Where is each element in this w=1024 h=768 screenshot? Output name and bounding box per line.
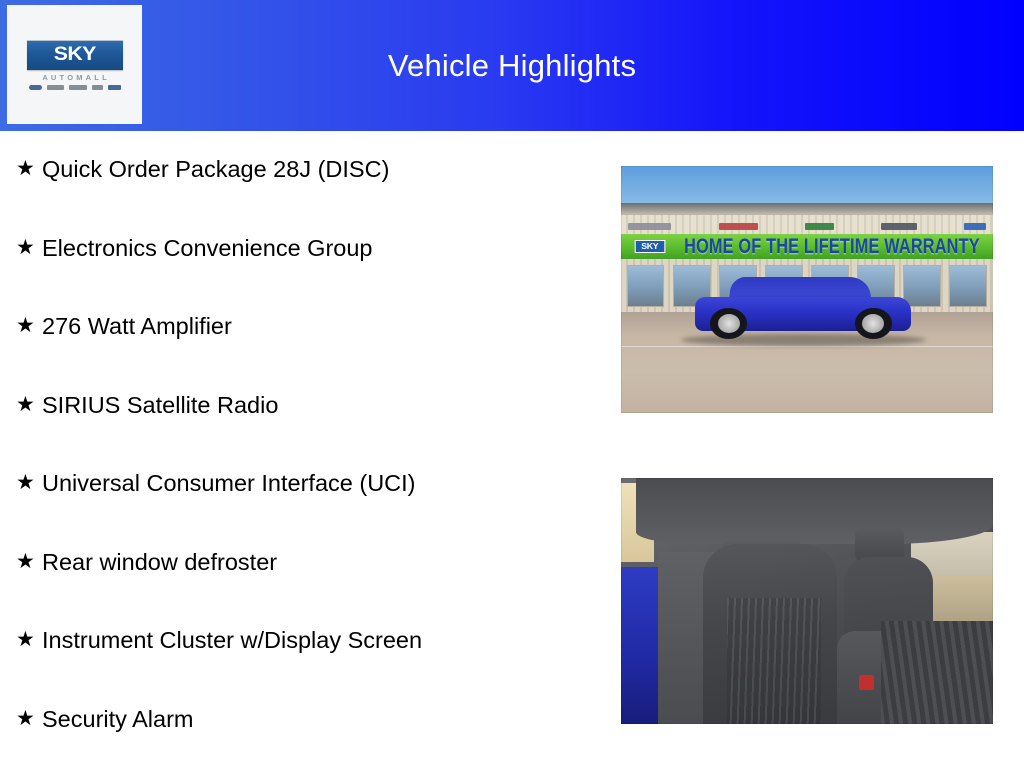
jeep-sign-icon bbox=[805, 223, 834, 231]
banner-text: HOME OF THE LIFETIME WARRANTY bbox=[684, 234, 980, 260]
star-bullet-icon: ★ bbox=[12, 311, 42, 341]
window-pane bbox=[627, 265, 665, 307]
logo-brand-marks bbox=[29, 85, 121, 90]
vehicle-exterior-photo: SKY HOME OF THE LIFETIME WARRANTY bbox=[621, 166, 993, 413]
warranty-banner: SKY HOME OF THE LIFETIME WARRANTY bbox=[621, 234, 993, 260]
highlight-text: Rear window defroster bbox=[42, 547, 277, 577]
jeep-mark-icon bbox=[69, 85, 87, 90]
window-pane bbox=[949, 265, 987, 307]
headliner bbox=[636, 478, 993, 544]
blue-challenger-vehicle bbox=[695, 275, 911, 339]
floor-mat bbox=[881, 621, 993, 724]
chrysler-mark-icon bbox=[29, 85, 42, 90]
logo-plate: SKY bbox=[27, 40, 123, 70]
highlight-text: Universal Consumer Interface (UCI) bbox=[42, 468, 416, 498]
star-bullet-icon: ★ bbox=[12, 625, 42, 655]
list-item: ★ Electronics Convenience Group bbox=[12, 227, 602, 306]
list-item: ★ 276 Watt Amplifier bbox=[12, 305, 602, 384]
list-item: ★ Quick Order Package 28J (DISC) bbox=[12, 148, 602, 227]
highlight-text: Electronics Convenience Group bbox=[42, 233, 372, 263]
list-item: ★ Security Alarm bbox=[12, 698, 602, 768]
page-title: Vehicle Highlights bbox=[0, 0, 1024, 131]
highlight-text: Quick Order Package 28J (DISC) bbox=[42, 154, 389, 184]
rear-wheel bbox=[855, 308, 892, 339]
star-bullet-icon: ★ bbox=[12, 154, 42, 184]
front-wheel bbox=[710, 308, 747, 339]
star-bullet-icon: ★ bbox=[12, 468, 42, 498]
star-bullet-icon: ★ bbox=[12, 390, 42, 420]
sky-mark-icon bbox=[108, 85, 121, 90]
driver-seat bbox=[703, 544, 837, 724]
logo-sub-text: AUTOMALL bbox=[39, 73, 110, 82]
ram-sign-icon bbox=[881, 223, 917, 231]
dodge-sign-icon bbox=[719, 223, 758, 231]
highlight-text: SIRIUS Satellite Radio bbox=[42, 390, 278, 420]
vehicle-interior-photo bbox=[621, 478, 993, 724]
slide-header: Vehicle Highlights bbox=[0, 0, 1024, 131]
list-item: ★ Rear window defroster bbox=[12, 541, 602, 620]
logo-inner: SKY AUTOMALL bbox=[26, 40, 124, 90]
vehicle-highlights-list: ★ Quick Order Package 28J (DISC) ★ Elect… bbox=[12, 148, 602, 768]
highlight-text: Instrument Cluster w/Display Screen bbox=[42, 625, 422, 655]
slide-root: Vehicle Highlights SKY AUTOMALL ★ Quick … bbox=[0, 0, 1024, 768]
dodge-mark-icon bbox=[47, 85, 64, 90]
star-bullet-icon: ★ bbox=[12, 233, 42, 263]
star-bullet-icon: ★ bbox=[12, 547, 42, 577]
list-item: ★ Instrument Cluster w/Display Screen bbox=[12, 619, 602, 698]
list-item: ★ SIRIUS Satellite Radio bbox=[12, 384, 602, 463]
list-item: ★ Universal Consumer Interface (UCI) bbox=[12, 462, 602, 541]
banner-sky-logo: SKY bbox=[634, 240, 664, 253]
chrysler-sign-icon bbox=[628, 223, 671, 231]
seatbelt-buckle bbox=[859, 675, 874, 690]
ram-mark-icon bbox=[92, 85, 103, 90]
highlight-text: Security Alarm bbox=[42, 704, 194, 734]
highlight-text: 276 Watt Amplifier bbox=[42, 311, 232, 341]
logo-brand-text: SKY bbox=[53, 44, 95, 66]
dealer-logo: SKY AUTOMALL bbox=[7, 5, 142, 124]
sky-sign-icon bbox=[964, 223, 985, 231]
dealership-brand-signs bbox=[628, 219, 985, 234]
star-bullet-icon: ★ bbox=[12, 704, 42, 734]
